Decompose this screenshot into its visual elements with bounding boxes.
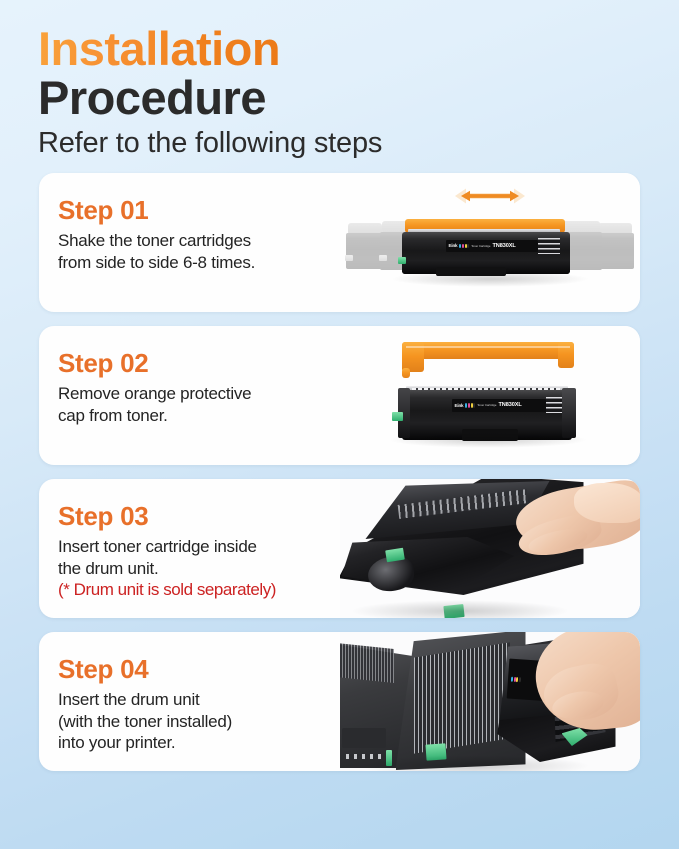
drum-green-clip: [392, 412, 403, 421]
toner-brand-text: Eink: [455, 403, 464, 408]
toner-brand-text: Eink: [449, 243, 458, 248]
step-02-description: Remove orange protective cap from toner.: [58, 383, 332, 427]
step-01-text-block: Step 01 Shake the toner cartridges from …: [39, 173, 340, 312]
step-02-label: Step 02: [58, 350, 332, 376]
cmyk-dots-icon: [510, 677, 520, 682]
step-02-text-block: Step 02 Remove orange protective cap fro…: [39, 326, 340, 465]
toner-model-text: TN830XL: [498, 402, 521, 408]
toner-model-label: Eink Toner Cartridge TN830XL: [452, 399, 546, 412]
toner-model-text: TN830XL: [492, 243, 515, 249]
step-01-media: Eink Toner Cartridge TN830XL: [340, 173, 641, 312]
step-04-text-block: Step 04 Insert the drum unit (with the t…: [39, 632, 340, 771]
double-arrow-icon: [453, 187, 527, 205]
step-03-media: [340, 479, 641, 618]
toner-model-label: Eink Toner Cartridge TN830XL: [446, 240, 538, 252]
page-subtitle: Refer to the following steps: [38, 127, 679, 160]
toner-caption-small: Toner Cartridge: [471, 245, 490, 248]
step-card-02: Step 02 Remove orange protective cap fro…: [39, 326, 640, 465]
step-03-note: (* Drum unit is sold separately): [58, 579, 332, 601]
step-card-01: Step 01 Shake the toner cartridges from …: [39, 173, 640, 312]
step-01-label: Step 01: [58, 197, 332, 223]
step-card-03: Step 03 Insert toner cartridge inside th…: [39, 479, 640, 618]
step-02-media: Eink Toner Cartridge TN830XL: [340, 326, 641, 465]
page-title-line1: Installation: [38, 26, 280, 72]
cmyk-dots-icon: [465, 403, 475, 407]
step-04-label: Step 04: [58, 656, 332, 682]
step-card-04: Step 04 Insert the drum unit (with the t…: [39, 632, 640, 771]
step-03-text-block: Step 03 Insert toner cartridge inside th…: [39, 479, 340, 618]
page-header: Installation Procedure Refer to the foll…: [0, 0, 679, 160]
page-title-line2: Procedure: [38, 74, 679, 122]
toner-caption-small: Toner Cartridge: [477, 404, 496, 407]
step-03-description: Insert toner cartridge inside the drum u…: [58, 536, 332, 580]
steps-list: Step 01 Shake the toner cartridges from …: [0, 160, 679, 771]
step-01-description: Shake the toner cartridges from side to …: [58, 230, 332, 274]
cmyk-dots-icon: [459, 244, 469, 248]
step-04-description: Insert the drum unit (with the toner ins…: [58, 689, 332, 754]
step-04-media: [340, 632, 641, 771]
step-03-label: Step 03: [58, 503, 332, 529]
